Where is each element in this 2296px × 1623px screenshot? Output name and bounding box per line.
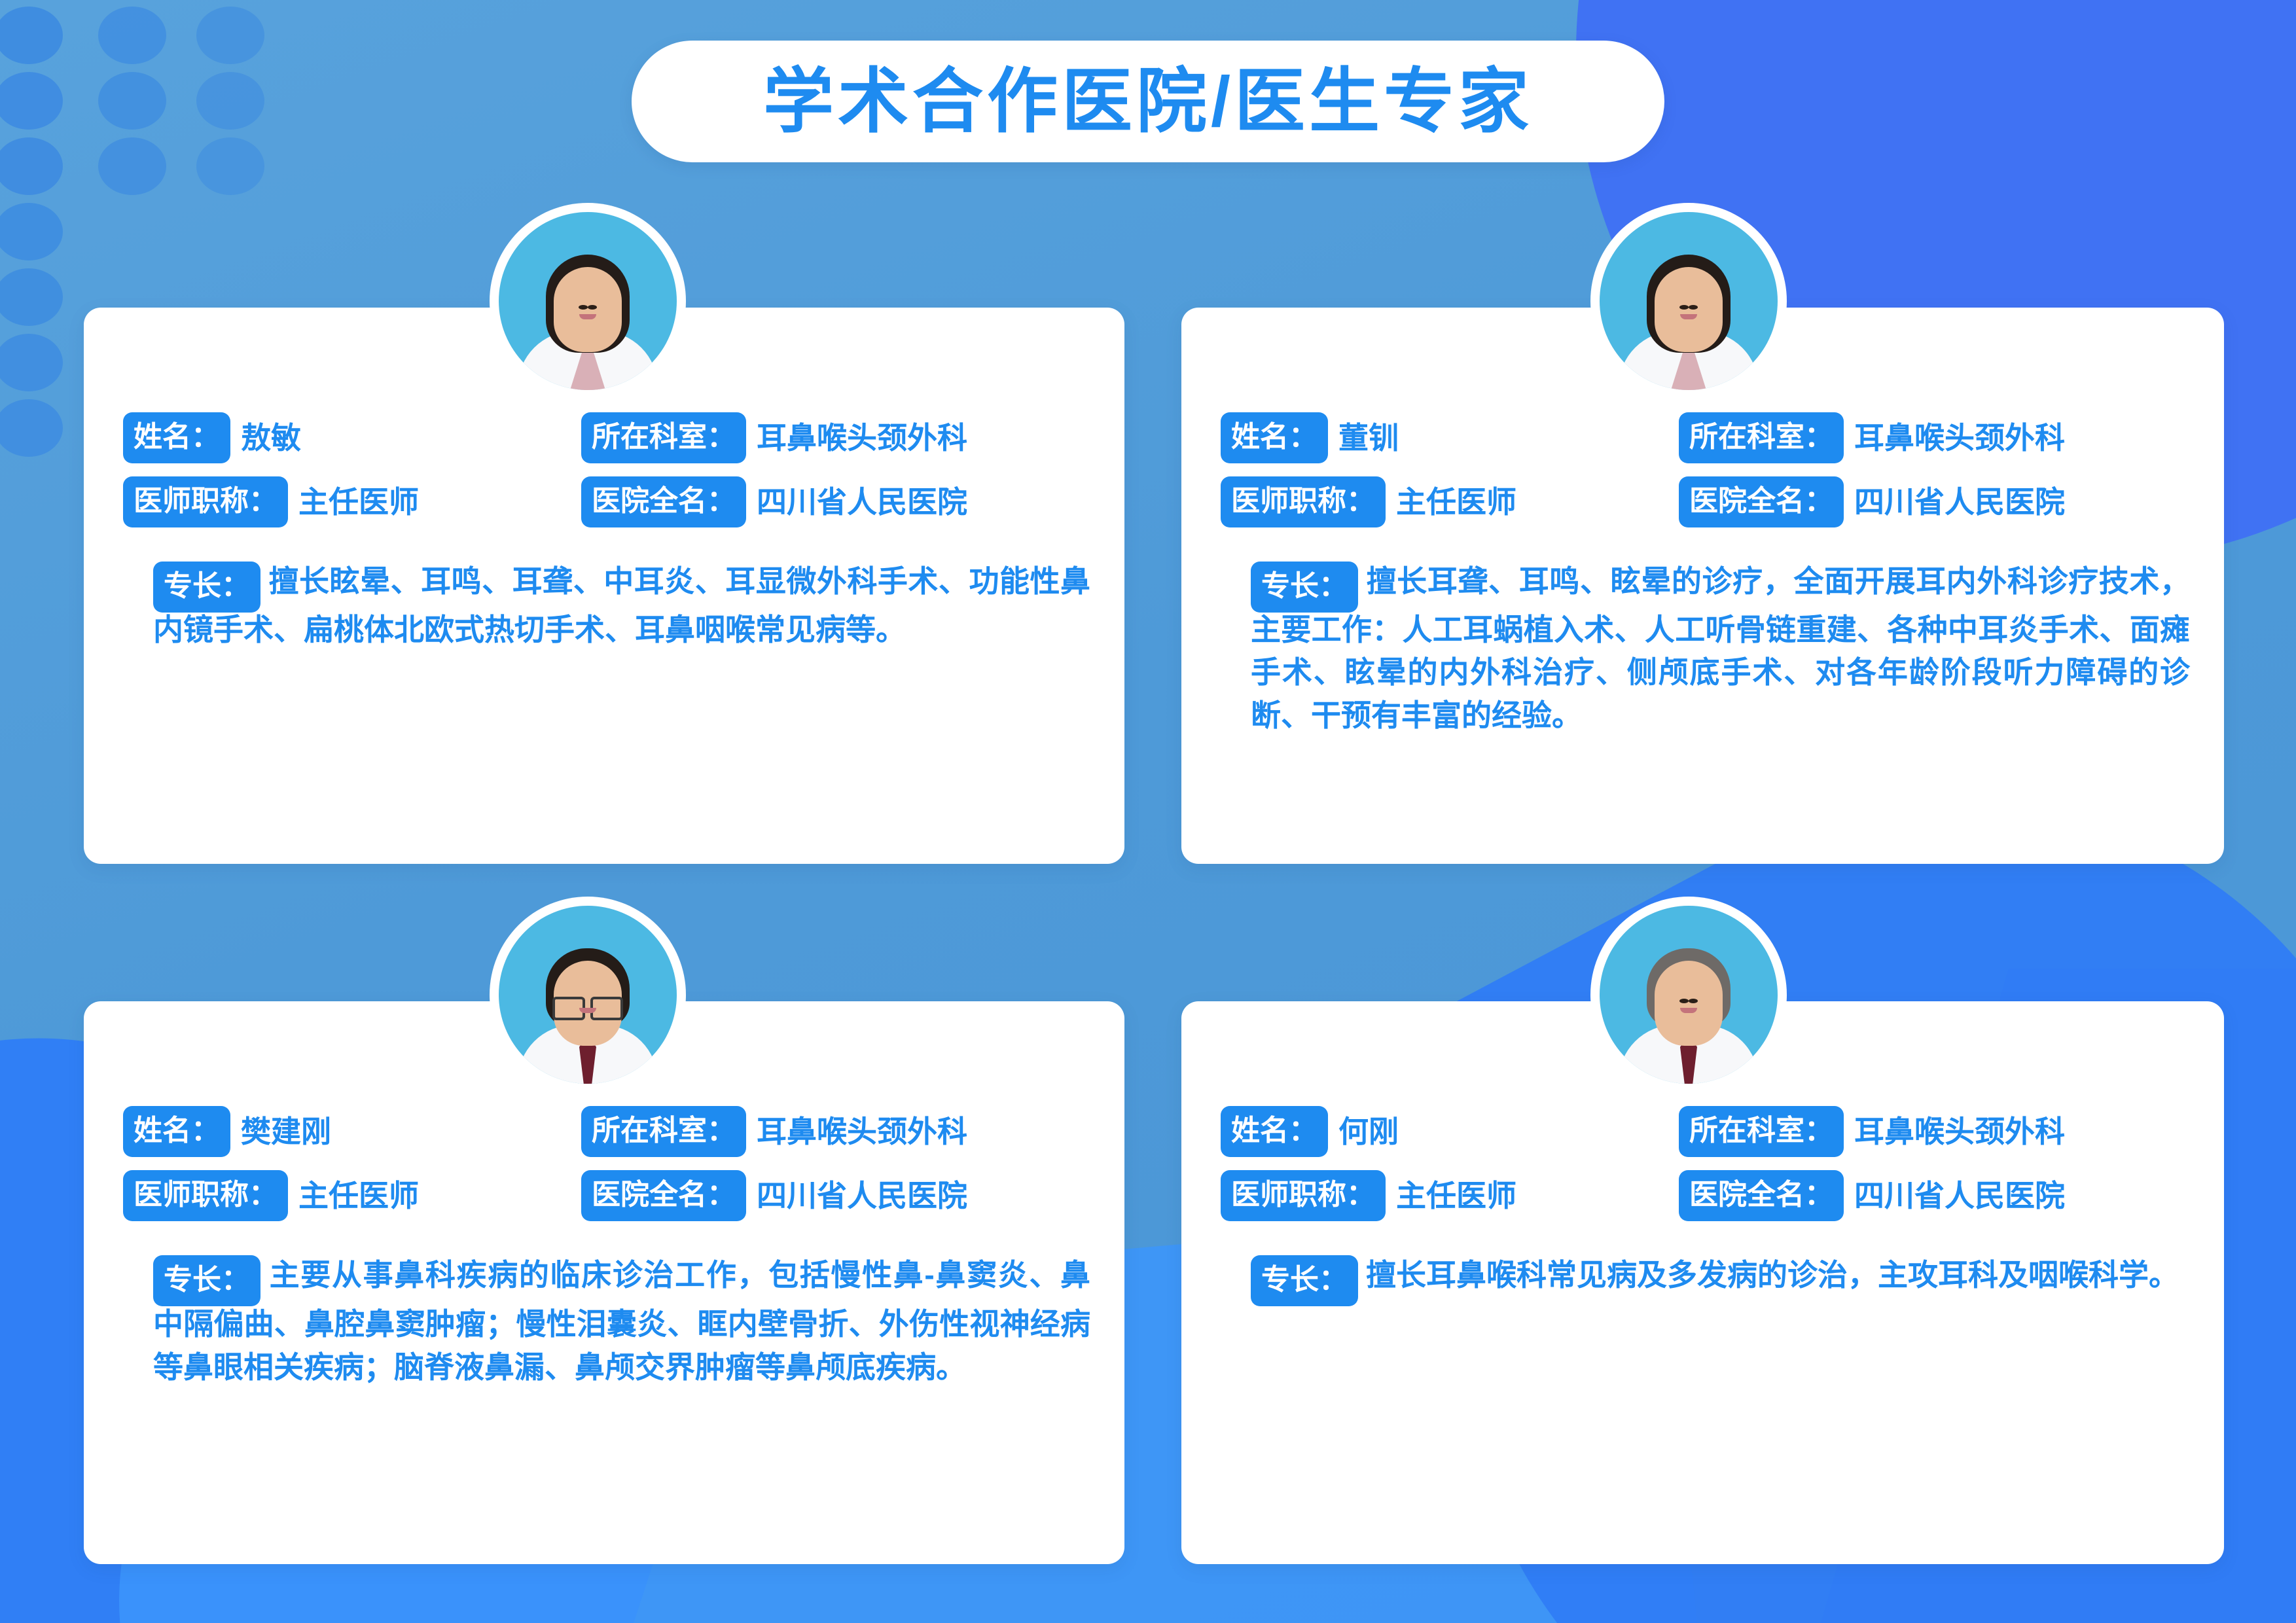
row-title-hospital: 医师职称： 主任医师 医院全名： 四川省人民医院	[123, 476, 1090, 527]
avatar-photo-female	[499, 212, 677, 390]
field-hospital: 医院全名： 四川省人民医院	[1679, 1170, 2190, 1221]
avatar	[1590, 203, 1787, 399]
row-title-hospital: 医师职称： 主任医师 医院全名： 四川省人民医院	[1221, 1170, 2190, 1221]
field-hospital: 医院全名： 四川省人民医院	[581, 1170, 1090, 1221]
value-specialty: 主要从事鼻科疾病的临床诊治工作，包括慢性鼻-鼻窦炎、鼻中隔偏曲、鼻腔鼻窦肿瘤；慢…	[153, 1258, 1090, 1384]
label-specialty: 专长：	[1251, 1255, 1358, 1306]
field-hospital: 医院全名： 四川省人民医院	[581, 476, 1090, 527]
value-title: 主任医师	[298, 1179, 419, 1213]
field-title: 医师职称： 主任医师	[123, 1170, 581, 1221]
label-department: 所在科室：	[1679, 1106, 1844, 1157]
label-specialty: 专长：	[153, 562, 260, 613]
row-name-department: 姓名： 董钏 所在科室： 耳鼻喉头颈外科	[1221, 412, 2190, 463]
card-body: 姓名： 董钏 所在科室： 耳鼻喉头颈外科 医师职称： 主任医师 医院全名： 四川…	[1181, 412, 2224, 767]
value-specialty: 擅长眩晕、耳鸣、耳聋、中耳炎、耳显微外科手术、功能性鼻内镜手术、扁桃体北欧式热切…	[153, 564, 1090, 647]
value-name: 董钏	[1338, 421, 1399, 455]
label-name: 姓名：	[123, 1106, 230, 1157]
field-title: 医师职称： 主任医师	[1221, 1170, 1679, 1221]
value-name: 何刚	[1338, 1115, 1399, 1149]
specialty-paragraph: 专长：主要从事鼻科疾病的临床诊治工作，包括慢性鼻-鼻窦炎、鼻中隔偏曲、鼻腔鼻窦肿…	[123, 1251, 1090, 1389]
field-department: 所在科室： 耳鼻喉头颈外科	[581, 1106, 1090, 1157]
label-name: 姓名：	[1221, 1106, 1328, 1157]
doctor-card[interactable]: 姓名： 何刚 所在科室： 耳鼻喉头颈外科 医师职称： 主任医师 医院全名： 四川…	[1181, 1001, 2224, 1564]
doctor-card[interactable]: 姓名： 樊建刚 所在科室： 耳鼻喉头颈外科 医师职称： 主任医师 医院全名： 四…	[84, 1001, 1124, 1564]
page-title-pill: 学术合作医院/医生专家	[632, 41, 1664, 162]
field-name: 姓名： 何刚	[1221, 1106, 1679, 1157]
page-title: 学术合作医院/医生专家	[763, 66, 1533, 137]
label-department: 所在科室：	[581, 1106, 746, 1157]
value-department: 耳鼻喉头颈外科	[757, 421, 967, 455]
avatar-photo-male-glasses	[499, 906, 677, 1084]
label-department: 所在科室：	[581, 412, 746, 463]
row-name-department: 姓名： 何刚 所在科室： 耳鼻喉头颈外科	[1221, 1106, 2190, 1157]
value-specialty: 擅长耳鼻喉科常见病及多发病的诊治，主攻耳科及咽喉科学。	[1366, 1258, 2179, 1292]
doctor-card[interactable]: 姓名： 敖敏 所在科室： 耳鼻喉头颈外科 医师职称： 主任医师 医院全名： 四川…	[84, 308, 1124, 864]
field-department: 所在科室： 耳鼻喉头颈外科	[1679, 412, 2190, 463]
specialty-paragraph: 专长：擅长眩晕、耳鸣、耳聋、中耳炎、耳显微外科手术、功能性鼻内镜手术、扁桃体北欧…	[123, 558, 1090, 651]
field-name: 姓名： 董钏	[1221, 412, 1679, 463]
value-hospital: 四川省人民医院	[1854, 1179, 2065, 1213]
field-hospital: 医院全名： 四川省人民医院	[1679, 476, 2190, 527]
label-hospital: 医院全名：	[581, 1170, 746, 1221]
field-specialty: 专长：擅长耳鼻喉科常见病及多发病的诊治，主攻耳科及咽喉科学。	[1221, 1251, 2190, 1302]
row-title-hospital: 医师职称： 主任医师 医院全名： 四川省人民医院	[1221, 476, 2190, 527]
field-department: 所在科室： 耳鼻喉头颈外科	[581, 412, 1090, 463]
label-name: 姓名：	[123, 412, 230, 463]
label-title: 医师职称：	[1221, 476, 1386, 527]
value-hospital: 四川省人民医院	[757, 1179, 967, 1213]
poster-canvas: 学术合作医院/医生专家 姓名： 敖敏 所在科室： 耳鼻喉头颈外科	[0, 0, 2296, 1623]
avatar-photo-male-senior	[1600, 906, 1778, 1084]
specialty-paragraph: 专长：擅长耳聋、耳鸣、眩晕的诊疗，全面开展耳内外科诊疗技术，主要工作：人工耳蜗植…	[1221, 558, 2190, 737]
card-body: 姓名： 敖敏 所在科室： 耳鼻喉头颈外科 医师职称： 主任医师 医院全名： 四川…	[84, 412, 1124, 681]
avatar	[1590, 897, 1787, 1093]
label-title: 医师职称：	[123, 476, 288, 527]
field-name: 姓名： 敖敏	[123, 412, 581, 463]
field-title: 医师职称： 主任医师	[123, 476, 581, 527]
value-department: 耳鼻喉头颈外科	[1854, 1115, 2065, 1149]
field-department: 所在科室： 耳鼻喉头颈外科	[1679, 1106, 2190, 1157]
label-specialty: 专长：	[153, 1255, 260, 1306]
label-hospital: 医院全名：	[581, 476, 746, 527]
doctor-card[interactable]: 姓名： 董钏 所在科室： 耳鼻喉头颈外科 医师职称： 主任医师 医院全名： 四川…	[1181, 308, 2224, 864]
value-name: 敖敏	[241, 421, 301, 455]
value-department: 耳鼻喉头颈外科	[1854, 421, 2065, 455]
label-title: 医师职称：	[1221, 1170, 1386, 1221]
label-department: 所在科室：	[1679, 412, 1844, 463]
label-hospital: 医院全名：	[1679, 1170, 1844, 1221]
field-name: 姓名： 樊建刚	[123, 1106, 581, 1157]
label-name: 姓名：	[1221, 412, 1328, 463]
specialty-paragraph: 专长：擅长耳鼻喉科常见病及多发病的诊治，主攻耳科及咽喉科学。	[1221, 1251, 2190, 1302]
value-specialty: 擅长耳聋、耳鸣、眩晕的诊疗，全面开展耳内外科诊疗技术，主要工作：人工耳蜗植入术、…	[1251, 564, 2190, 732]
label-specialty: 专长：	[1251, 562, 1358, 613]
field-specialty: 专长：主要从事鼻科疾病的临床诊治工作，包括慢性鼻-鼻窦炎、鼻中隔偏曲、鼻腔鼻窦肿…	[123, 1251, 1090, 1389]
field-title: 医师职称： 主任医师	[1221, 476, 1679, 527]
label-hospital: 医院全名：	[1679, 476, 1844, 527]
value-department: 耳鼻喉头颈外科	[757, 1115, 967, 1149]
row-name-department: 姓名： 樊建刚 所在科室： 耳鼻喉头颈外科	[123, 1106, 1090, 1157]
value-name: 樊建刚	[241, 1115, 331, 1149]
field-specialty: 专长：擅长眩晕、耳鸣、耳聋、中耳炎、耳显微外科手术、功能性鼻内镜手术、扁桃体北欧…	[123, 558, 1090, 651]
row-title-hospital: 医师职称： 主任医师 医院全名： 四川省人民医院	[123, 1170, 1090, 1221]
value-title: 主任医师	[1396, 1179, 1516, 1213]
avatar-photo-female	[1600, 212, 1778, 390]
card-body: 姓名： 樊建刚 所在科室： 耳鼻喉头颈外科 医师职称： 主任医师 医院全名： 四…	[84, 1106, 1124, 1419]
avatar	[490, 897, 686, 1093]
label-title: 医师职称：	[123, 1170, 288, 1221]
avatar	[490, 203, 686, 399]
value-title: 主任医师	[298, 486, 419, 519]
field-specialty: 专长：擅长耳聋、耳鸣、眩晕的诊疗，全面开展耳内外科诊疗技术，主要工作：人工耳蜗植…	[1221, 558, 2190, 737]
value-hospital: 四川省人民医院	[757, 486, 967, 519]
row-name-department: 姓名： 敖敏 所在科室： 耳鼻喉头颈外科	[123, 412, 1090, 463]
card-body: 姓名： 何刚 所在科室： 耳鼻喉头颈外科 医师职称： 主任医师 医院全名： 四川…	[1181, 1106, 2224, 1332]
value-title: 主任医师	[1396, 486, 1516, 519]
value-hospital: 四川省人民医院	[1854, 486, 2065, 519]
